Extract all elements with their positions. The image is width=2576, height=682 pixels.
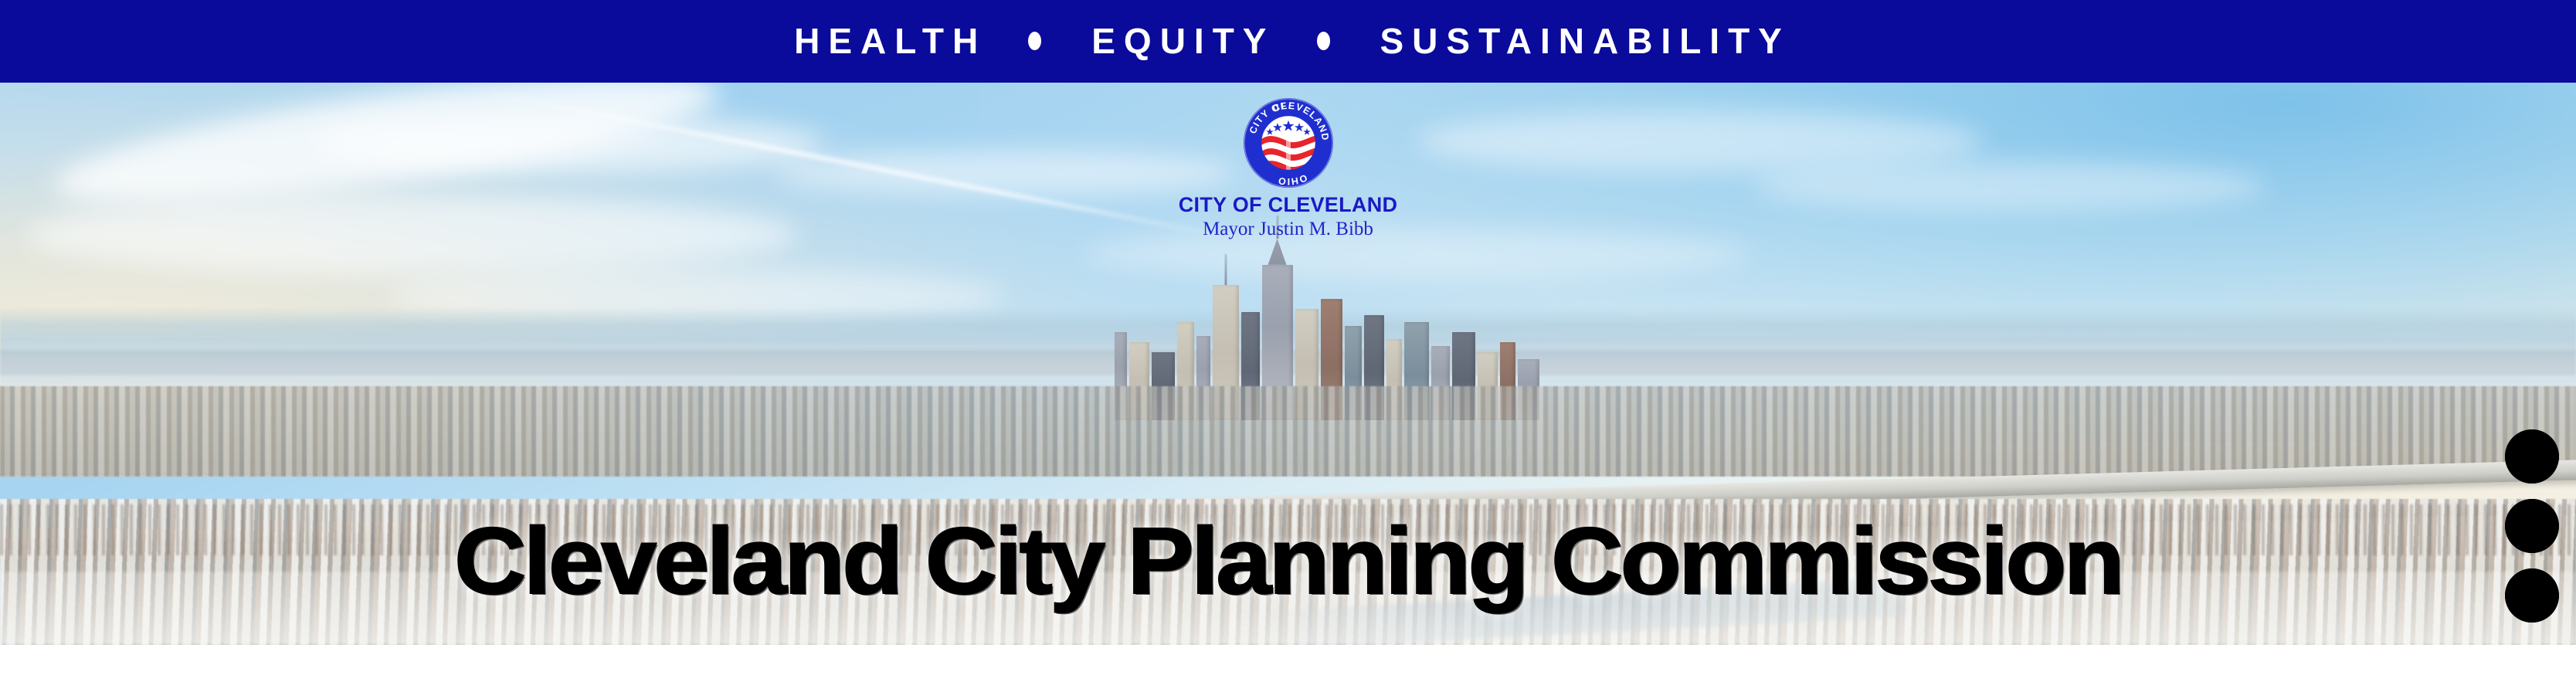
city-brand-lockup: CITY OF CLEVELAND OHIO: [1072, 97, 1505, 241]
cloud: [1752, 161, 2267, 212]
city-of-cleveland-seal-icon: CITY OF CLEVELAND OHIO: [1242, 97, 1335, 189]
bullet-dot-icon: [1028, 32, 1041, 50]
midground-cityscape: [0, 386, 2576, 476]
social-link-facebook[interactable]: [2505, 568, 2559, 623]
social-link-instagram[interactable]: [2505, 499, 2559, 553]
tagline-banner-inner: HEALTH EQUITY SUSTAINABILITY: [786, 23, 1790, 59]
social-links: [2505, 429, 2559, 623]
tagline-word-health: HEALTH: [786, 23, 986, 59]
tagline-word-sustainability: SUSTAINABILITY: [1372, 23, 1790, 59]
tagline-banner: HEALTH EQUITY SUSTAINABILITY: [0, 0, 2576, 83]
page-root: HEALTH EQUITY SUSTAINABILITY: [0, 0, 2576, 682]
brand-subtitle: Mayor Justin M. Bibb: [1072, 218, 1505, 241]
bullet-dot-icon: [1317, 32, 1330, 50]
bottom-white-strip: [0, 645, 2576, 682]
social-link-youtube[interactable]: [2505, 429, 2559, 484]
cloud: [25, 195, 799, 274]
page-title: Cleveland City Planning Commission: [0, 514, 2576, 608]
brand-name: CITY OF CLEVELAND: [1072, 194, 1505, 215]
spire: [1224, 254, 1227, 285]
tagline-word-equity: EQUITY: [1083, 23, 1274, 59]
